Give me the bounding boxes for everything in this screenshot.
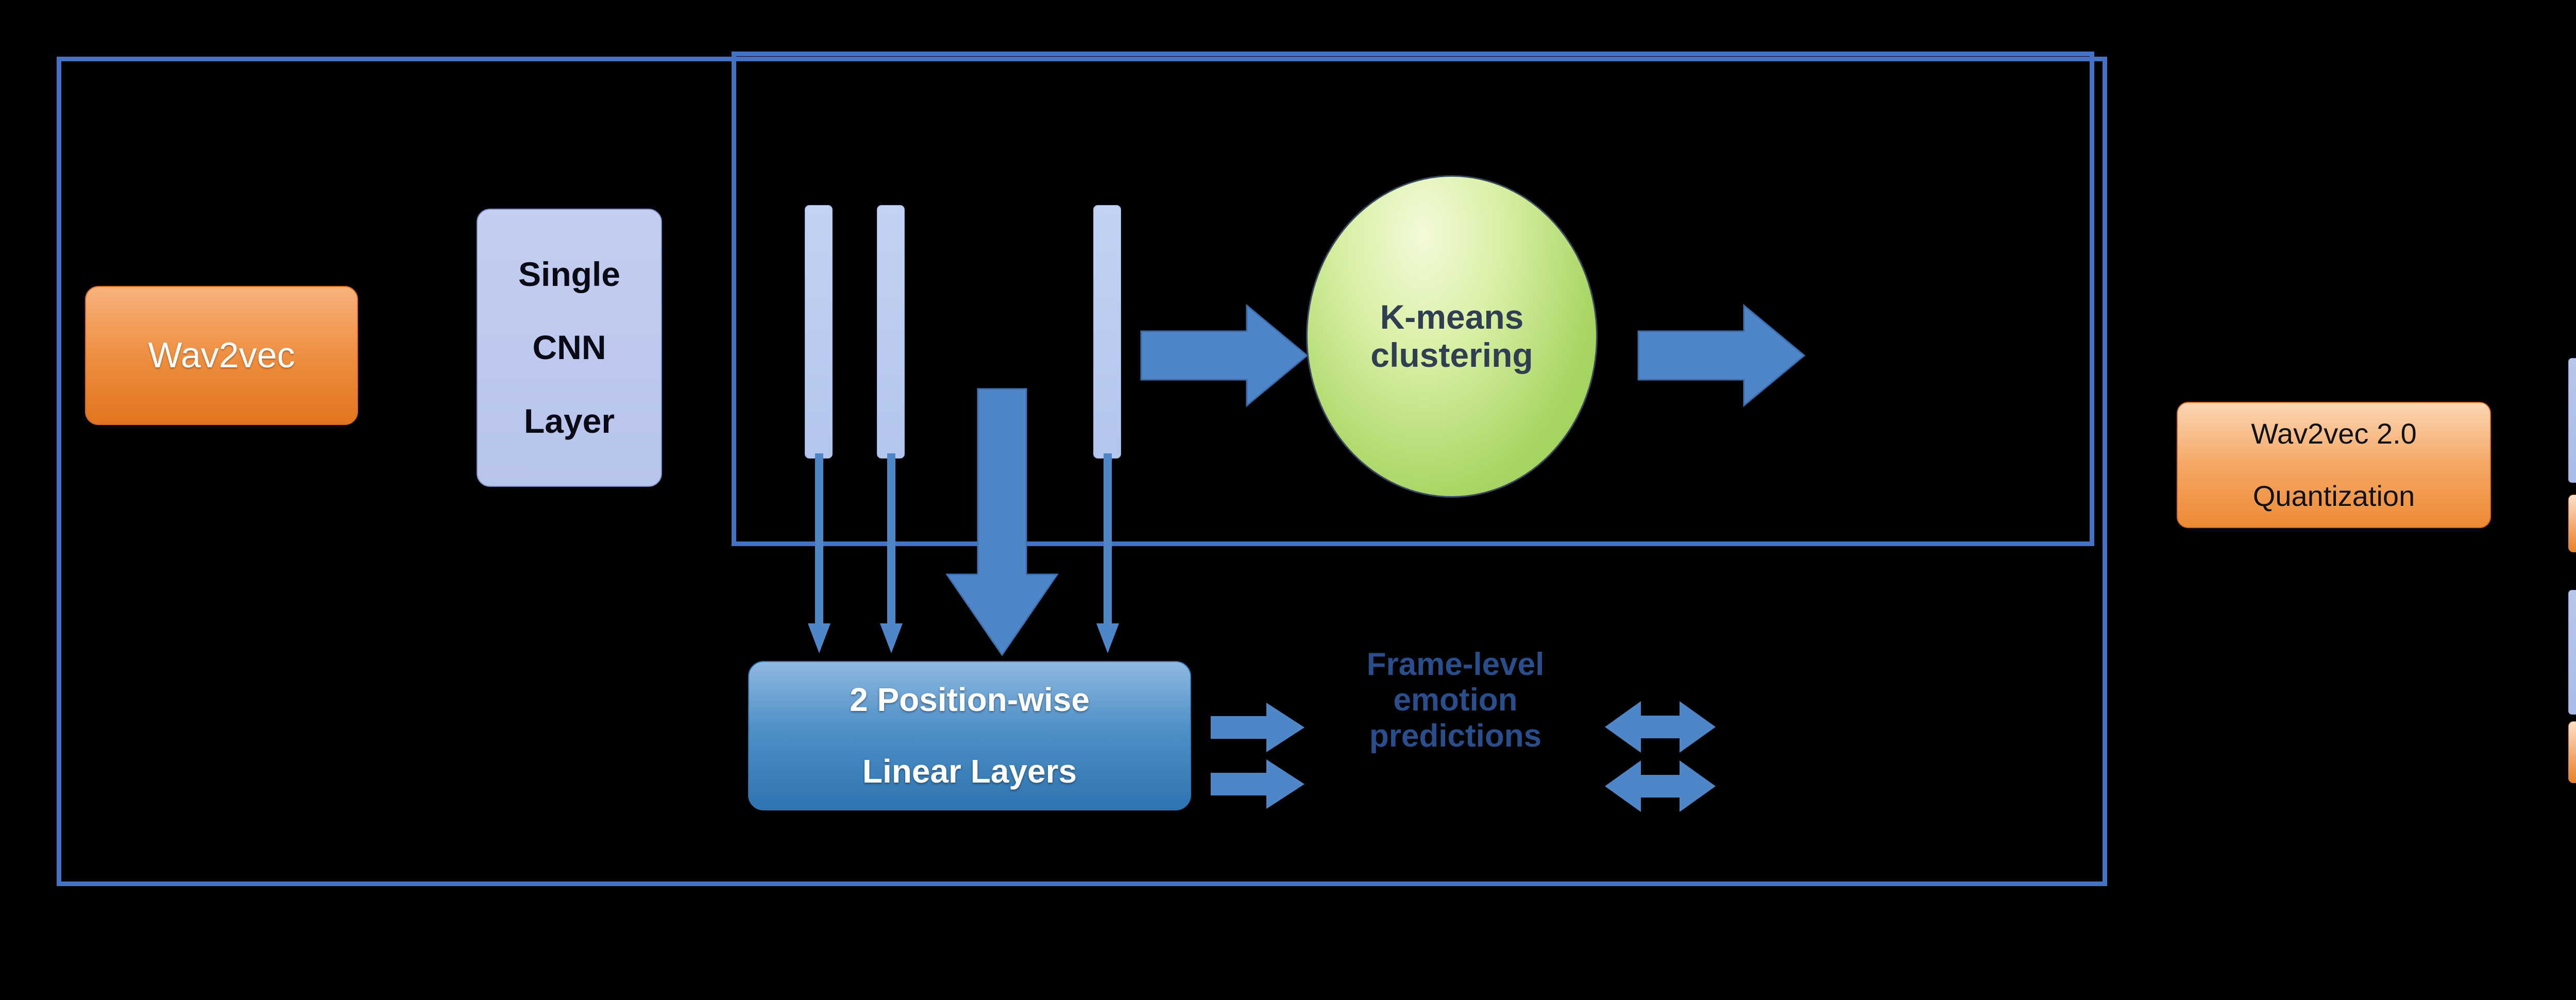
kmeans-clustering-ellipse[interactable]: K-means clustering	[1306, 175, 1598, 498]
feature-encoder-label: Wav2vec 2.0 Feature encoder	[2569, 736, 2576, 769]
predictions-line-1: Frame-level	[1367, 647, 1545, 682]
top-token-row	[2568, 358, 2576, 482]
kmeans-label: K-means clustering	[1370, 298, 1533, 375]
position-wise-linear-layers-box[interactable]: 2 Position-wise Linear Layers	[748, 661, 1191, 810]
bar-2-down-arrow	[876, 453, 907, 654]
quantization-box[interactable]: Wav2vec 2.0 Quantization	[2177, 402, 2491, 528]
linear-layers-label: 2 Position-wise Linear Layers	[749, 682, 1190, 789]
token-bottom-0	[2568, 590, 2576, 715]
predictions-arrow-bottom	[1211, 757, 1306, 811]
cnn-line-3: Layer	[478, 403, 661, 439]
bottom-token-row	[2568, 590, 2576, 714]
diagram-canvas: Wav2vec Single CNN Layer K-means cluster…	[0, 0, 2576, 1000]
loss-double-arrow-top	[1605, 698, 1716, 756]
transformer-module-label: Wav2vec 2.0 Transformer module	[2569, 507, 2576, 540]
feature-encoder-bar[interactable]: Wav2vec 2.0 Feature encoder	[2568, 721, 2576, 783]
loss-double-arrow-bottom	[1605, 757, 1716, 815]
kmeans-line-2: clustering	[1370, 336, 1533, 374]
wav2vec-box[interactable]: Wav2vec	[85, 286, 358, 425]
transformer-module-bar[interactable]: Wav2vec 2.0 Transformer module	[2568, 495, 2576, 552]
to-kmeans-arrow	[1141, 301, 1311, 410]
feature-bar-2	[877, 205, 905, 459]
linear-layers-line-2: Linear Layers	[749, 754, 1190, 789]
quantization-line-2: Quantization	[2178, 481, 2490, 512]
quantization-label: Wav2vec 2.0 Quantization	[2178, 418, 2490, 512]
predictions-line-3: predictions	[1369, 718, 1541, 754]
bar-3-down-arrow	[1092, 453, 1123, 654]
predictions-arrow-top	[1211, 701, 1306, 755]
quantization-line-1: Wav2vec 2.0	[2178, 418, 2490, 449]
cnn-line-1: Single	[478, 256, 661, 293]
feature-bar-3	[1093, 205, 1121, 459]
bar-1-down-arrow	[804, 453, 835, 654]
predictions-line-2: emotion	[1393, 682, 1517, 718]
kmeans-line-1: K-means	[1380, 298, 1524, 336]
cnn-line-2: CNN	[478, 329, 661, 366]
frame-level-predictions-label: Frame-level emotion predictions	[1311, 647, 1600, 754]
single-cnn-layer-label: Single CNN Layer	[478, 256, 661, 439]
pseudo-label-down-arrow	[943, 389, 1061, 657]
linear-layers-line-1: 2 Position-wise	[749, 682, 1190, 718]
wav2vec-box-label: Wav2vec	[86, 336, 357, 375]
feature-bar-1	[805, 205, 833, 459]
token-top-0	[2568, 358, 2576, 483]
single-cnn-layer-box[interactable]: Single CNN Layer	[477, 209, 662, 487]
kmeans-output-arrow	[1638, 301, 1808, 410]
